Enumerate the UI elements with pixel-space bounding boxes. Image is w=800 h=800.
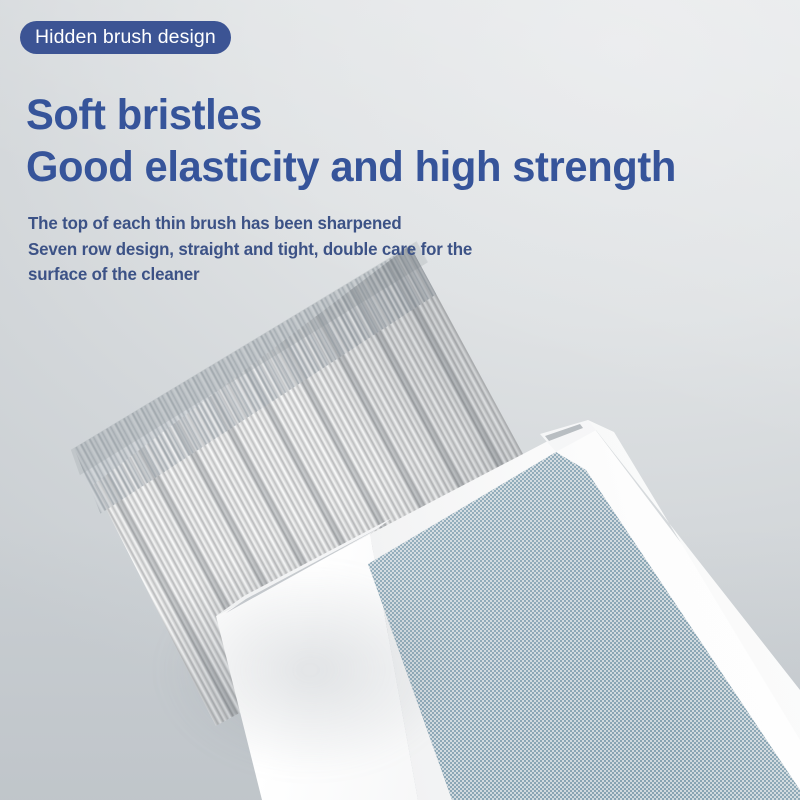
description-line-1: The top of each thin brush has been shar… <box>28 211 472 237</box>
product-drop-shadow <box>130 520 490 800</box>
description-text: The top of each thin brush has been shar… <box>28 211 472 288</box>
product-banner: Hidden brush design Soft bristles Good e… <box>0 0 800 800</box>
feature-badge: Hidden brush design <box>20 21 231 54</box>
page-title: Soft bristles Good elasticity and high s… <box>26 89 676 193</box>
headline-line-2: Good elasticity and high strength <box>26 141 676 193</box>
description-line-2: Seven row design, straight and tight, do… <box>28 237 472 263</box>
headline-line-1: Soft bristles <box>26 91 262 139</box>
description-line-3: surface of the cleaner <box>28 262 472 288</box>
